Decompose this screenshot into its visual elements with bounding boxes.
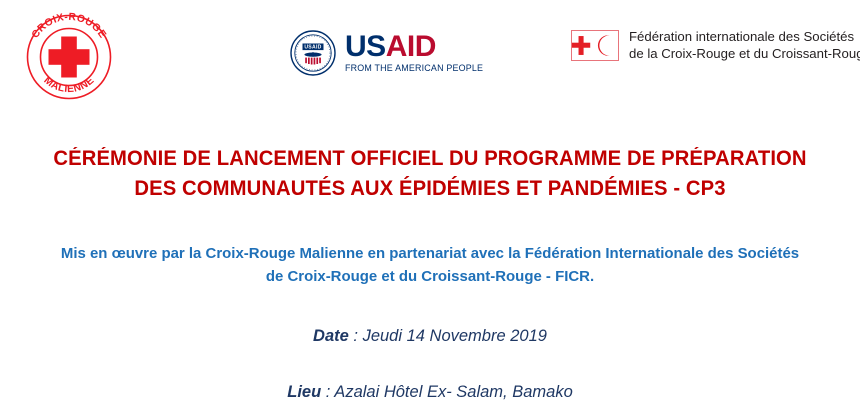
croix-rouge-malienne-logo: CROIX-ROUGE MALIENNE xyxy=(18,8,120,102)
usaid-logo: USAID USAID FROM THE AMERICAN PEOPLE xyxy=(290,29,487,77)
ifrc-wordmark: Fédération internationale des Sociétés d… xyxy=(629,29,860,62)
red-cross-crescent-icon xyxy=(571,30,619,61)
ifrc-logo: Fédération internationale des Sociétés d… xyxy=(571,29,860,62)
event-date-value: : Jeudi 14 Novembre 2019 xyxy=(349,327,547,345)
event-date: Date : Jeudi 14 Novembre 2019 xyxy=(0,326,860,346)
usaid-tagline: FROM THE AMERICAN PEOPLE xyxy=(345,64,483,73)
page-title-line-2: DES COMMUNAUTÉS AUX ÉPIDÉMIES ET PANDÉMI… xyxy=(15,174,845,204)
svg-text:MALIENNE: MALIENNE xyxy=(41,75,96,95)
event-location: Lieu : Azalai Hôtel Ex- Salam, Bamako xyxy=(0,382,860,402)
usaid-wordmark: USAID FROM THE AMERICAN PEOPLE xyxy=(345,32,487,73)
event-location-label: Lieu xyxy=(287,383,321,401)
page-title-line-1: CÉRÉMONIE DE LANCEMENT OFFICIEL DU PROGR… xyxy=(15,144,845,174)
usaid-wordmark-us: US xyxy=(345,30,386,63)
svg-text:CROIX-ROUGE: CROIX-ROUGE xyxy=(30,12,108,41)
ifrc-wordmark-line2: de la Croix-Rouge et du Croissant-Rouge xyxy=(629,46,860,61)
page-subtitle-line-1: Mis en œuvre par la Croix-Rouge Malienne… xyxy=(6,242,853,265)
page-subtitle: Mis en œuvre par la Croix-Rouge Malienne… xyxy=(6,242,853,288)
usaid-wordmark-aid: AID xyxy=(386,30,436,63)
page-title: CÉRÉMONIE DE LANCEMENT OFFICIEL DU PROGR… xyxy=(15,144,845,204)
usaid-seal-icon: USAID xyxy=(290,30,336,76)
event-location-value: : Azalai Hôtel Ex- Salam, Bamako xyxy=(321,383,573,401)
logo-band: CROIX-ROUGE MALIENNE USAID xyxy=(0,0,860,115)
ifrc-wordmark-line1: Fédération internationale des Sociétés xyxy=(629,29,854,44)
event-date-label: Date xyxy=(313,327,349,345)
page-subtitle-line-2: de Croix-Rouge et du Croissant-Rouge - F… xyxy=(6,265,853,288)
svg-text:USAID: USAID xyxy=(304,45,321,51)
